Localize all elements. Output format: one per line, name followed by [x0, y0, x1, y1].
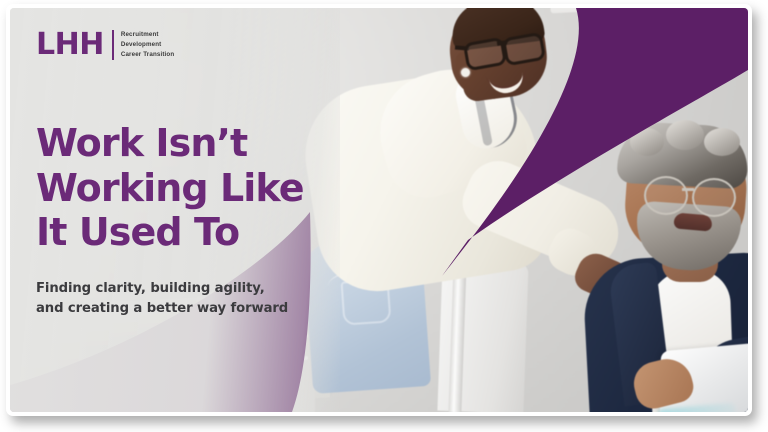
logo-wordmark: LHH [36, 30, 104, 60]
headline: Work Isn’t Working Like It Used To [36, 121, 326, 254]
headline-line-1: Work Isn’t [36, 121, 326, 165]
logo-divider-rule [112, 30, 114, 60]
logo-tagline-line-3: Career Transition [121, 50, 174, 60]
subheadline-line-2: and creating a better way forward [36, 299, 326, 319]
lhh-logo[interactable]: LHH Recruitment Development Career Trans… [36, 30, 174, 60]
brand-swoosh-upper [448, 8, 748, 412]
text-panel: LHH Recruitment Development Career Trans… [10, 8, 340, 412]
headline-line-2: Working Like [36, 166, 326, 210]
logo-tagline: Recruitment Development Career Transitio… [121, 30, 174, 60]
subheadline: Finding clarity, building agility, and c… [36, 279, 326, 319]
slide-card: LHH Recruitment Development Career Trans… [6, 4, 752, 416]
slide-canvas: LHH Recruitment Development Career Trans… [10, 8, 748, 412]
headline-line-3: It Used To [36, 210, 326, 254]
logo-tagline-line-2: Development [121, 40, 174, 50]
subheadline-line-1: Finding clarity, building agility, [36, 279, 326, 299]
logo-tagline-line-1: Recruitment [121, 30, 174, 40]
